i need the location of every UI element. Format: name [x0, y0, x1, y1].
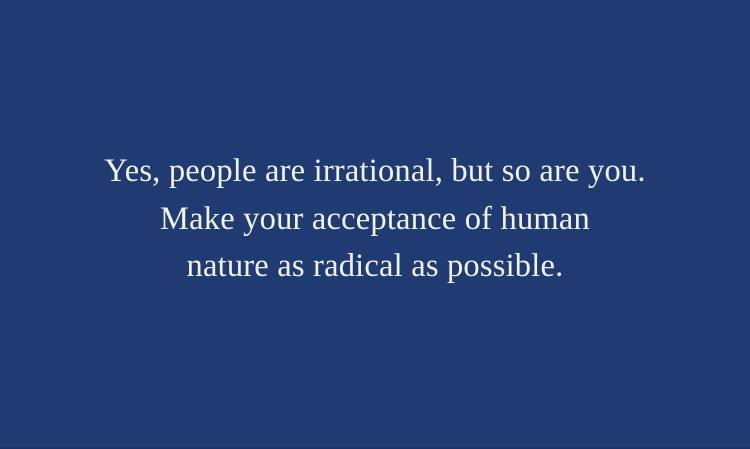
quote-line-2: Make your acceptance of human	[40, 196, 710, 244]
quote-line-1: Yes, people are irrational, but so are y…	[40, 148, 710, 196]
quote-line-3: nature as radical as possible.	[40, 243, 710, 291]
quote-text-block: Yes, people are irrational, but so are y…	[0, 148, 750, 291]
quote-image-canvas: Yes, people are irrational, but so are y…	[0, 0, 750, 449]
